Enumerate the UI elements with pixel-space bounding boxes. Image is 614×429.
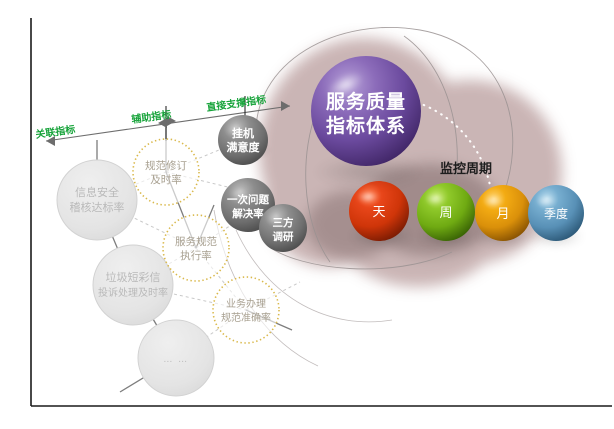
assist-node-1[interactable]: 规范修订 及时率 <box>133 139 199 205</box>
cycle-sphere-quarter[interactable]: 季度 <box>528 185 584 246</box>
related-node-1[interactable]: 信息安全 稽核达标率 <box>57 160 137 240</box>
assist-node-2[interactable]: 服务规范 执行率 <box>163 215 229 281</box>
zone-label-related: 关联指标 <box>35 123 76 141</box>
zone-label-related-text: 关联指标 <box>35 123 76 141</box>
related-node-2[interactable]: 垃圾短彩信 投诉处理及时率 <box>93 245 173 325</box>
cycle-sphere-month[interactable]: 月 <box>475 185 532 246</box>
diagram-canvas: 关联指标 辅助指标 直接支撑指标 信息安全 稽核达标率 垃圾短彩信 投诉处理及时… <box>0 0 614 429</box>
main-sphere[interactable]: 服务质量 指标体系 <box>311 56 424 188</box>
related-node-3[interactable]: … … <box>138 320 214 396</box>
assist-node-3[interactable]: 业务办理 规范准确率 <box>213 277 279 343</box>
diagram-svg: 关联指标 辅助指标 直接支撑指标 信息安全 稽核达标率 垃圾短彩信 投诉处理及时… <box>0 0 614 429</box>
